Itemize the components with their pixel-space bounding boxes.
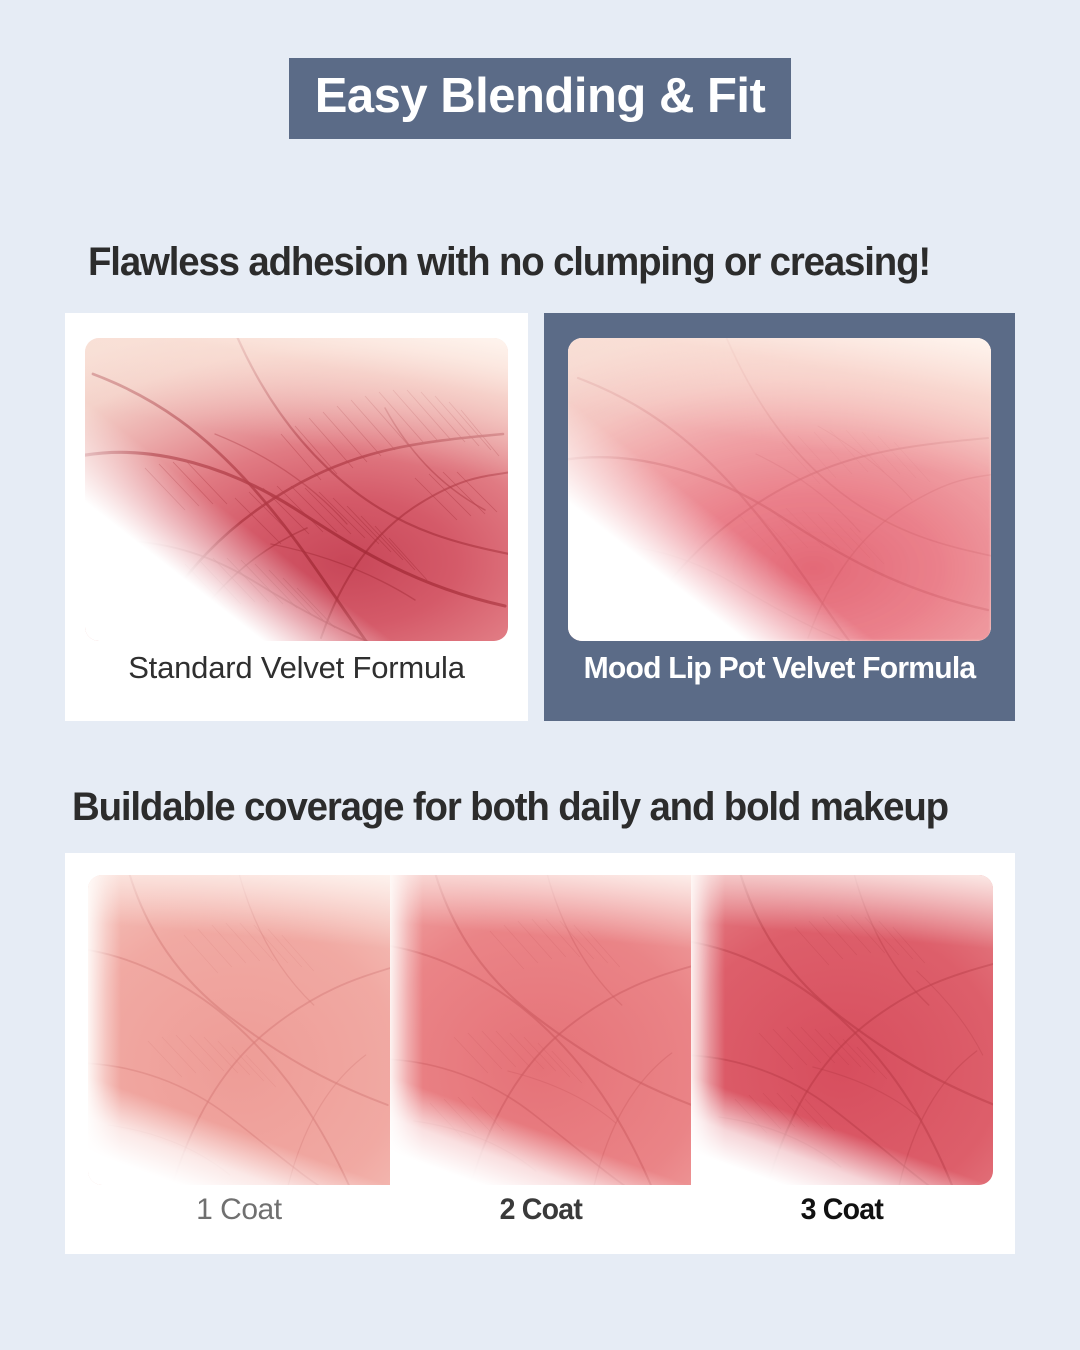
coat-label-3: 3 Coat — [699, 1193, 986, 1226]
photo-background-corner — [88, 875, 390, 1185]
comparison-label-standard: Standard Velvet Formula — [65, 651, 528, 685]
section-heading-adhesion: Flawless adhesion with no clumping or cr… — [88, 240, 930, 285]
swatch-image-standard — [85, 338, 508, 641]
coat-swatch-1 — [88, 875, 390, 1185]
coat-label-2: 2 Coat — [397, 1193, 684, 1226]
skin-photo-standard — [85, 338, 508, 641]
comparison-label-mood-lip-pot: Mood Lip Pot Velvet Formula — [551, 651, 1008, 685]
page-title: Easy Blending & Fit — [289, 58, 792, 139]
coat-swatch-3 — [691, 875, 993, 1185]
photo-background-corner — [568, 338, 991, 641]
skin-photo-coat-3 — [691, 875, 993, 1185]
skin-photo-coat-2 — [390, 875, 692, 1185]
photo-background-corner — [691, 875, 993, 1185]
coat-swatch-2 — [390, 875, 692, 1185]
section-heading-buildable: Buildable coverage for both daily and bo… — [72, 785, 948, 830]
skin-photo-mood — [568, 338, 991, 641]
photo-background-corner — [390, 875, 692, 1185]
title-banner-container: Easy Blending & Fit — [0, 58, 1080, 139]
skin-photo-coat-1 — [88, 875, 390, 1185]
comparison-row: Standard Velvet Formula — [65, 313, 1015, 721]
coat-label-row: 1 Coat 2 Coat 3 Coat — [88, 1193, 993, 1226]
comparison-card-standard: Standard Velvet Formula — [65, 313, 528, 721]
swatch-image-mood-lip-pot — [568, 338, 991, 641]
comparison-card-mood-lip-pot: Mood Lip Pot Velvet Formula — [544, 313, 1015, 721]
buildable-coverage-card: 1 Coat 2 Coat 3 Coat — [65, 853, 1015, 1254]
photo-background-corner — [85, 338, 508, 641]
coat-swatch-strip — [88, 875, 993, 1185]
coat-label-1: 1 Coat — [88, 1193, 390, 1226]
